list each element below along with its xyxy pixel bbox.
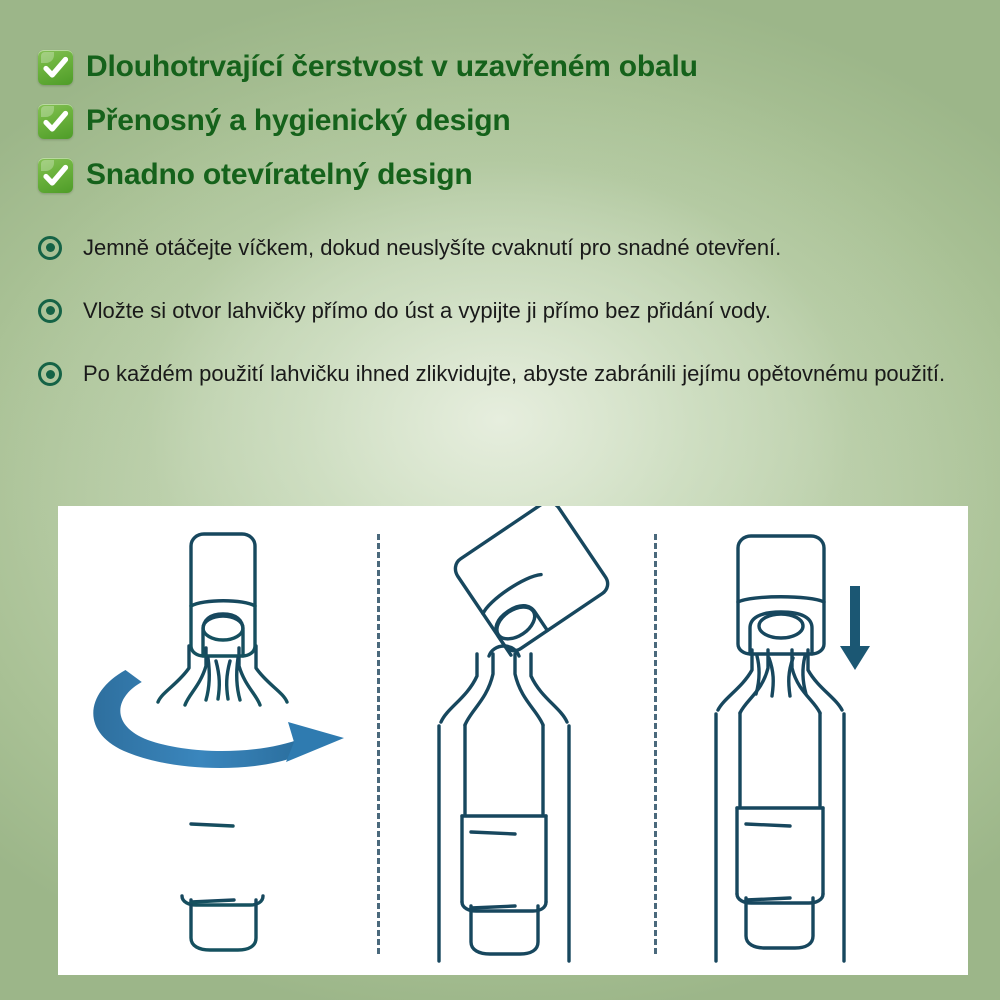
- press-cap-step: [654, 506, 968, 975]
- instruction-text: Vložte si otvor lahvičky přímo do úst a …: [83, 295, 771, 326]
- feature-label: Dlouhotrvající čerstvost v uzavřeném oba…: [86, 51, 698, 83]
- feature-row: Snadno otevíratelný design: [38, 150, 978, 200]
- feature-label: Přenosný a hygienický design: [86, 105, 511, 137]
- feature-row: Přenosný a hygienický design: [38, 96, 978, 146]
- instruction-text: Po každém použití lahvičku ihned zlikvid…: [83, 358, 945, 389]
- instruction-illustration-panel: [58, 506, 968, 975]
- radio-bullet-icon: [38, 299, 62, 323]
- check-badge-icon: [38, 158, 73, 193]
- check-badge-icon: [38, 104, 73, 139]
- feature-label: Snadno otevíratelný design: [86, 159, 473, 191]
- check-badge-icon: [38, 50, 73, 85]
- remove-cap-step: [377, 506, 654, 975]
- down-arrow-icon: [840, 586, 870, 670]
- instruction-text: Jemně otáčejte víčkem, dokud neuslyšíte …: [83, 232, 781, 263]
- feature-row: Dlouhotrvající čerstvost v uzavřeném oba…: [38, 42, 978, 92]
- product-feature-graphic: Dlouhotrvající čerstvost v uzavřeném oba…: [0, 0, 1000, 1000]
- instruction-list: Jemně otáčejte víčkem, dokud neuslyšíte …: [38, 232, 990, 390]
- instruction-item: Vložte si otvor lahvičky přímo do úst a …: [38, 295, 990, 326]
- radio-bullet-icon: [38, 236, 62, 260]
- instruction-item: Po každém použití lahvičku ihned zlikvid…: [38, 358, 990, 389]
- radio-bullet-icon: [38, 362, 62, 386]
- twist-cap-step: [58, 506, 377, 975]
- instruction-item: Jemně otáčejte víčkem, dokud neuslyšíte …: [38, 232, 990, 263]
- feature-check-list: Dlouhotrvající čerstvost v uzavřeném oba…: [38, 42, 978, 204]
